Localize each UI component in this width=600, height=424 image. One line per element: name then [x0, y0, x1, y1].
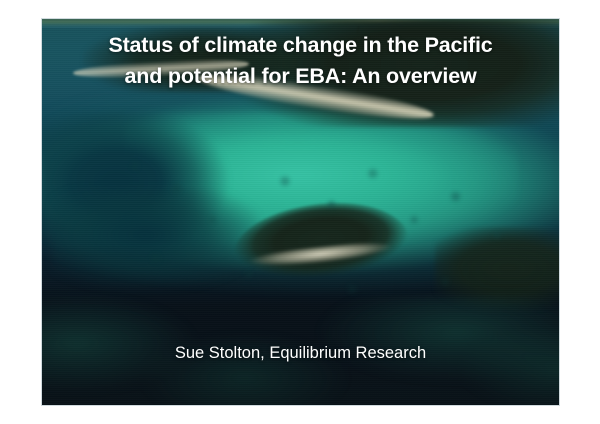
slide-title: Status of climate change in the Pacific … — [42, 30, 559, 92]
title-line-2: and potential for EBA: An overview — [42, 61, 559, 92]
slide-page: Status of climate change in the Pacific … — [0, 0, 600, 424]
title-line-1: Status of climate change in the Pacific — [42, 30, 559, 61]
slide-subtitle: Sue Stolton, Equilibrium Research — [42, 342, 559, 364]
author-affiliation: Sue Stolton, Equilibrium Research — [42, 342, 559, 364]
